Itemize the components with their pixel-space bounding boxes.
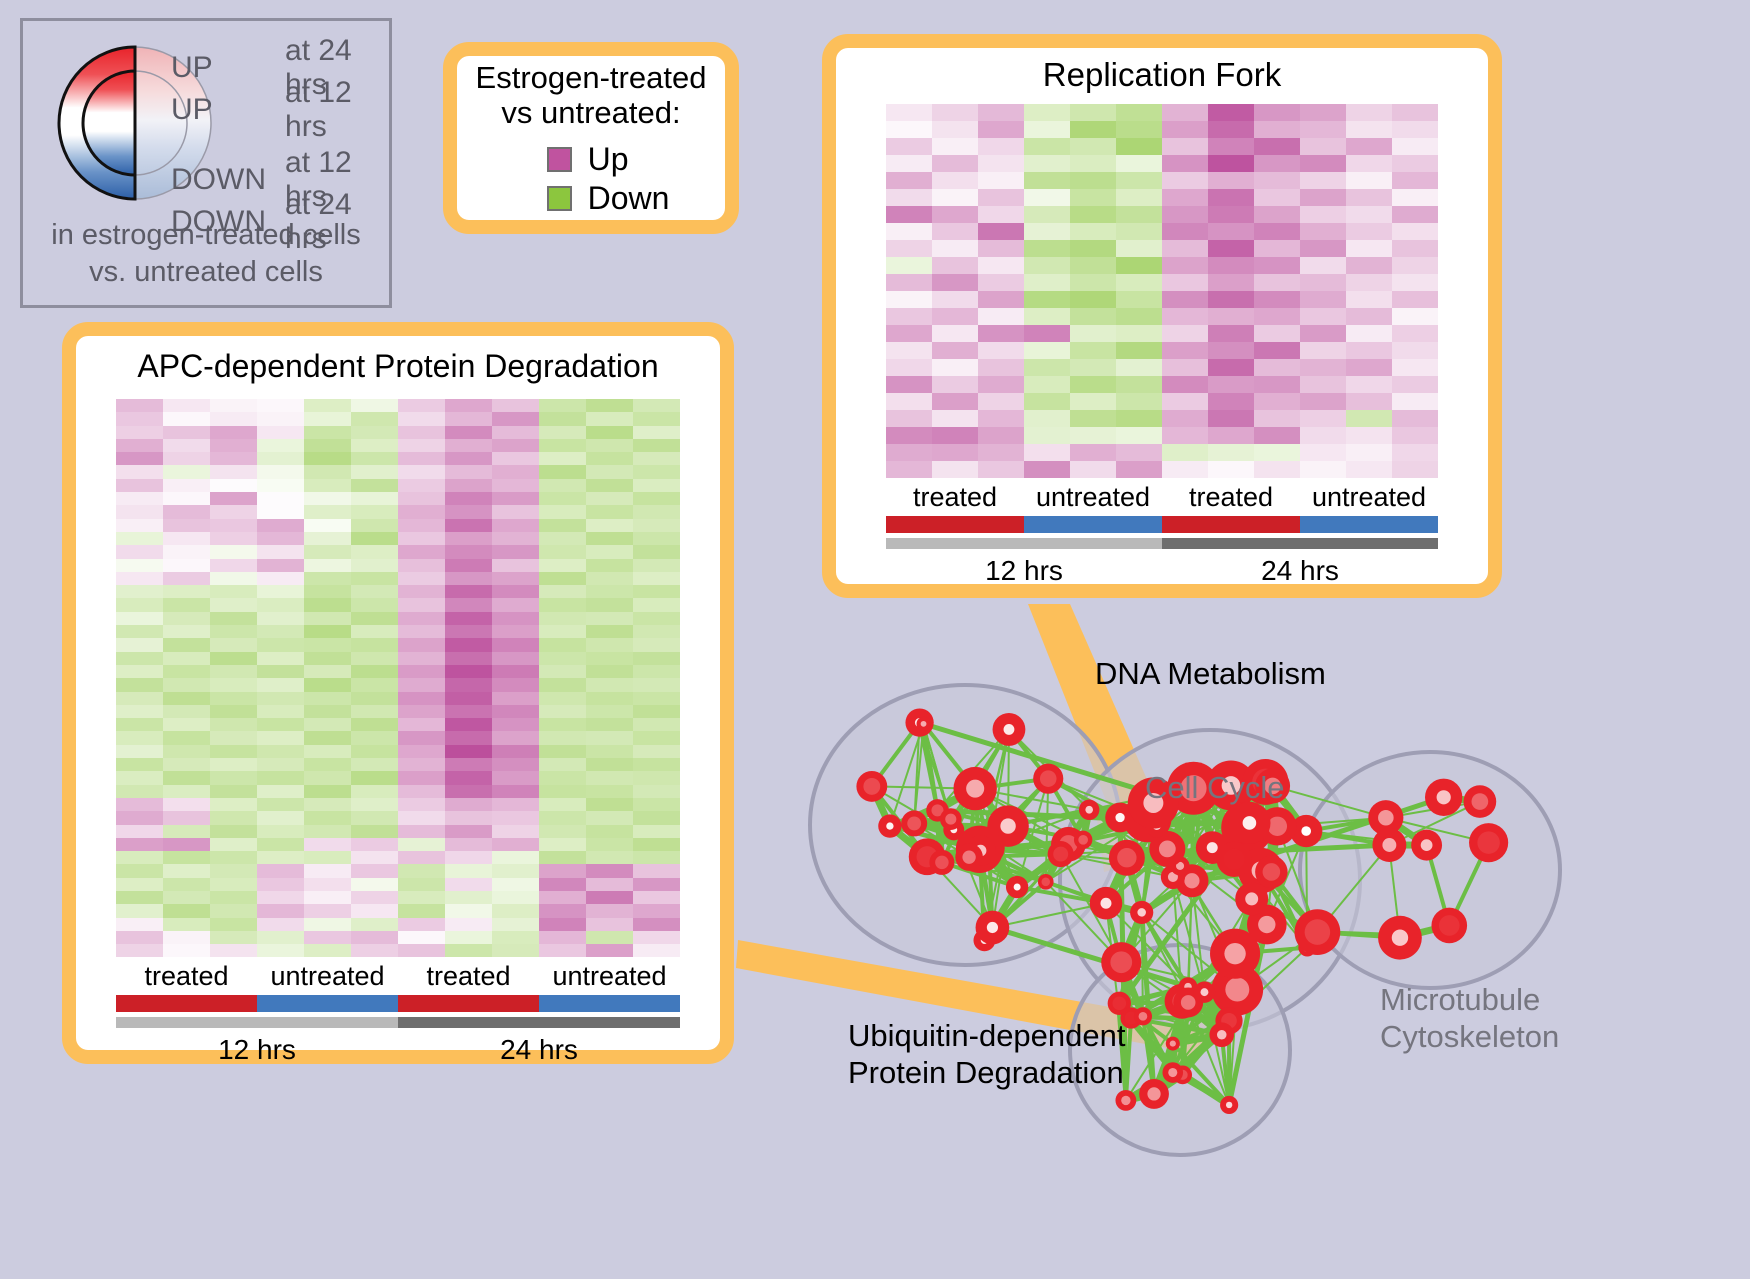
heatmap-cell — [163, 771, 210, 784]
apc-degradation-axis: treated untreated treated untreated 12 h — [116, 957, 680, 1066]
heatmap-cell — [586, 399, 633, 412]
heatmap-cell — [633, 585, 680, 598]
heatmap-cell — [210, 625, 257, 638]
heatmap-cell — [886, 138, 932, 155]
heatmap-cell — [351, 758, 398, 771]
heatmap-cell — [116, 878, 163, 891]
heatmap-cell — [163, 519, 210, 532]
network-node-inner-core — [1226, 1102, 1232, 1108]
heatmap-cell — [163, 492, 210, 505]
heatmap-cell — [1300, 410, 1346, 427]
heatmap-cell — [1300, 274, 1346, 291]
heatmap-cell — [886, 121, 932, 138]
heatmap-cell — [445, 692, 492, 705]
heatmap-cell — [586, 519, 633, 532]
heatmap-cell — [163, 838, 210, 851]
heatmap-cell — [1208, 206, 1254, 223]
heatmap-cell — [978, 223, 1024, 240]
heatmap-cell — [1116, 274, 1162, 291]
heatmap-cell — [445, 878, 492, 891]
heatmap-cell — [1070, 274, 1116, 291]
bar-untreated-12 — [257, 995, 398, 1012]
heatmap-cell — [1024, 376, 1070, 393]
heatmap-cell — [492, 745, 539, 758]
heatmap-cell — [1254, 410, 1300, 427]
heatmap-cell — [1300, 206, 1346, 223]
heatmap-cell — [257, 638, 304, 651]
heatmap-cell — [633, 545, 680, 558]
heatmap-cell — [1392, 240, 1438, 257]
heatmap-cell — [304, 545, 351, 558]
heatmap-cell — [586, 625, 633, 638]
heatmap-cell — [586, 665, 633, 678]
network-svg — [790, 620, 1750, 1279]
heatmap-cell — [398, 705, 445, 718]
heatmap-cell — [492, 585, 539, 598]
heatmap-cell — [257, 838, 304, 851]
heatmap-cell — [1116, 376, 1162, 393]
axis-time-bars — [116, 1017, 680, 1028]
heatmap-cell — [304, 652, 351, 665]
heatmap-cell — [586, 811, 633, 824]
heatmap-cell — [1024, 138, 1070, 155]
heatmap-cell — [257, 771, 304, 784]
heatmap-cell — [351, 745, 398, 758]
heatmap-cell — [633, 612, 680, 625]
heatmap-cell — [1346, 359, 1392, 376]
heatmap-cell — [304, 705, 351, 718]
network-node-inner-core — [1263, 863, 1281, 881]
heatmap-cell — [978, 325, 1024, 342]
cluster-label-ubiquitin-line2: Protein Degradation — [848, 1055, 1126, 1092]
network-node-inner-core — [962, 850, 975, 863]
heatmap-cell — [257, 798, 304, 811]
heatmap-cell — [210, 426, 257, 439]
network-node-inner-core — [1245, 892, 1258, 905]
heatmap-cell — [445, 559, 492, 572]
heatmap-cell — [1254, 223, 1300, 240]
heatmap-cell — [1392, 121, 1438, 138]
cluster-label-dna-metabolism: DNA Metabolism — [1095, 656, 1326, 693]
heatmap-cell — [210, 718, 257, 731]
heatmap-cell — [163, 918, 210, 931]
heatmap-cell — [304, 399, 351, 412]
heatmap-cell — [1070, 223, 1116, 240]
heatmap-cell — [539, 572, 586, 585]
heatmap-cell — [1392, 308, 1438, 325]
axis-group-bars — [886, 516, 1438, 533]
heatmap-cell — [257, 665, 304, 678]
heatmap-cell — [210, 851, 257, 864]
heatmap-cell — [932, 376, 978, 393]
network-node-inner-core — [1439, 915, 1460, 936]
heatmap-cell — [398, 931, 445, 944]
heatmap-cell — [586, 798, 633, 811]
heatmap-cell — [586, 492, 633, 505]
ring-time: at 12 hrs — [285, 76, 389, 144]
heatmap-cell — [1254, 121, 1300, 138]
heatmap-cell — [116, 678, 163, 691]
heatmap-cell — [304, 825, 351, 838]
heatmap-cell — [932, 274, 978, 291]
heatmap-cell — [886, 189, 932, 206]
heatmap-cell — [1116, 257, 1162, 274]
heatmap-cell — [633, 598, 680, 611]
heatmap-cell — [304, 864, 351, 877]
heatmap-cell — [163, 585, 210, 598]
heatmap-cell — [539, 399, 586, 412]
heatmap-cell — [351, 652, 398, 665]
heatmap-cell — [210, 825, 257, 838]
heatmap-cell — [978, 410, 1024, 427]
heatmap-cell — [539, 758, 586, 771]
heatmap-cell — [633, 665, 680, 678]
heatmap-cell — [1346, 155, 1392, 172]
heatmap-cell — [492, 612, 539, 625]
heatmap-cell — [304, 745, 351, 758]
legend-item-down: Down — [547, 180, 670, 217]
heatmap-cell — [1254, 274, 1300, 291]
heatmap-cell — [445, 452, 492, 465]
heatmap-cell — [445, 825, 492, 838]
heatmap-cell — [586, 426, 633, 439]
heatmap-cell — [1024, 427, 1070, 444]
network-node-inner-core — [1258, 916, 1275, 933]
heatmap-cell — [116, 838, 163, 851]
heatmap-cell — [1300, 121, 1346, 138]
heatmap-cell — [1070, 104, 1116, 121]
heatmap-cell — [163, 652, 210, 665]
heatmap-cell — [1070, 444, 1116, 461]
axis-label-untreated-12: untreated — [257, 957, 398, 995]
heatmap-cell — [539, 585, 586, 598]
heatmap-cell — [210, 532, 257, 545]
heatmap-cell — [304, 638, 351, 651]
heatmap-cell — [304, 426, 351, 439]
heatmap-cell — [978, 376, 1024, 393]
heatmap-cell — [1208, 342, 1254, 359]
heatmap-cell — [210, 452, 257, 465]
heatmap-cell — [257, 864, 304, 877]
heatmap-cell — [1392, 189, 1438, 206]
heatmap-cell — [932, 461, 978, 478]
heatmap-cell — [304, 718, 351, 731]
heatmap-cell — [1254, 461, 1300, 478]
heatmap-cell — [1024, 155, 1070, 172]
heatmap-cell — [445, 505, 492, 518]
heatmap-cell — [257, 598, 304, 611]
heatmap-cell — [1254, 240, 1300, 257]
heatmap-cell — [163, 559, 210, 572]
heatmap-cell — [398, 625, 445, 638]
heatmap-cell — [1024, 189, 1070, 206]
heatmap-cell — [398, 838, 445, 851]
heatmap-cell — [1300, 359, 1346, 376]
heatmap-cell — [1162, 444, 1208, 461]
heatmap-cell — [1392, 104, 1438, 121]
heatmap-cell — [1300, 461, 1346, 478]
heatmap-cell — [978, 240, 1024, 257]
heatmap-cell — [1116, 138, 1162, 155]
heatmap-cell — [304, 731, 351, 744]
heatmap-cell — [932, 121, 978, 138]
heatmap-cell — [932, 444, 978, 461]
heatmap-cell — [163, 532, 210, 545]
heatmap-cell — [1162, 461, 1208, 478]
heatmap-cell — [1346, 172, 1392, 189]
heatmap-cell — [116, 864, 163, 877]
heatmap-cell — [978, 393, 1024, 410]
heatmap-cell — [1116, 206, 1162, 223]
estrogen-legend-title-line2: vs untreated: — [476, 96, 707, 131]
heatmap-cell — [1300, 155, 1346, 172]
heatmap-cell — [1162, 274, 1208, 291]
heatmap-cell — [1070, 172, 1116, 189]
heatmap-cell — [492, 492, 539, 505]
heatmap-cell — [304, 412, 351, 425]
network-node-inner-core — [1085, 806, 1093, 814]
axis-label-treated-24: treated — [1162, 478, 1300, 516]
heatmap-cell — [633, 864, 680, 877]
heatmap-cell — [539, 412, 586, 425]
heatmap-cell — [492, 944, 539, 957]
heatmap-cell — [116, 479, 163, 492]
heatmap-cell — [1116, 104, 1162, 121]
heatmap-cell — [586, 878, 633, 891]
network-node-inner-core — [1181, 995, 1196, 1010]
heatmap-cell — [445, 705, 492, 718]
heatmap-cell — [445, 439, 492, 452]
heatmap-cell — [1254, 172, 1300, 189]
network-node-inner-core — [1184, 873, 1199, 888]
heatmap-cell — [978, 104, 1024, 121]
heatmap-cell — [1162, 121, 1208, 138]
heatmap-cell — [1070, 121, 1116, 138]
heatmap-cell — [351, 931, 398, 944]
heatmap-cell — [1392, 376, 1438, 393]
heatmap-cell — [633, 559, 680, 572]
heatmap-cell — [492, 904, 539, 917]
heatmap-cell — [1024, 444, 1070, 461]
heatmap-cell — [257, 758, 304, 771]
heatmap-cell — [586, 559, 633, 572]
heatmap-cell — [633, 851, 680, 864]
heatmap-cell — [1208, 444, 1254, 461]
heatmap-cell — [257, 412, 304, 425]
heatmap-cell — [633, 492, 680, 505]
network-node-inner-core — [1168, 1068, 1177, 1077]
heatmap-cell — [886, 325, 932, 342]
legend-item-up-label: Up — [588, 141, 629, 178]
heatmap-cell — [1392, 325, 1438, 342]
heatmap-cell — [539, 519, 586, 532]
heatmap-cell — [1162, 427, 1208, 444]
heatmap-cell — [210, 705, 257, 718]
heatmap-cell — [492, 705, 539, 718]
heatmap-cell — [492, 465, 539, 478]
heatmap-cell — [163, 692, 210, 705]
heatmap-cell — [116, 692, 163, 705]
heatmap-cell — [351, 399, 398, 412]
heatmap-cell — [633, 692, 680, 705]
heatmap-cell — [1254, 104, 1300, 121]
heatmap-cell — [492, 811, 539, 824]
heatmap-cell — [539, 439, 586, 452]
heatmap-cell — [492, 891, 539, 904]
heatmap-cell — [398, 785, 445, 798]
heatmap-cell — [1208, 121, 1254, 138]
heatmap-cell — [163, 465, 210, 478]
heatmap-cell — [633, 652, 680, 665]
heatmap-cell — [351, 479, 398, 492]
heatmap-cell — [257, 891, 304, 904]
heatmap-cell — [932, 223, 978, 240]
heatmap-cell — [586, 718, 633, 731]
heatmap-cell — [116, 426, 163, 439]
heatmap-cell — [1346, 257, 1392, 274]
heatmap-cell — [1116, 444, 1162, 461]
heatmap-cell — [586, 412, 633, 425]
heatmap-cell — [1392, 172, 1438, 189]
heatmap-cell — [304, 559, 351, 572]
heatmap-cell — [492, 731, 539, 744]
heatmap-cell — [492, 532, 539, 545]
heatmap-cell — [1254, 393, 1300, 410]
heatmap-cell — [586, 505, 633, 518]
heatmap-cell — [398, 465, 445, 478]
down-color-swatch — [547, 186, 572, 211]
heatmap-cell — [351, 864, 398, 877]
heatmap-cell — [1254, 359, 1300, 376]
heatmap-cell — [1116, 291, 1162, 308]
cluster-label-microtubule-line1: Microtubule — [1380, 982, 1559, 1019]
heatmap-cell — [163, 638, 210, 651]
heatmap-cell — [116, 492, 163, 505]
heatmap-cell — [886, 274, 932, 291]
network-node-inner-core — [907, 816, 921, 830]
heatmap-cell — [1024, 393, 1070, 410]
heatmap-cell — [586, 758, 633, 771]
bar-time-24 — [1162, 538, 1438, 549]
heatmap-cell — [210, 785, 257, 798]
heatmap-cell — [445, 545, 492, 558]
heatmap-cell — [539, 452, 586, 465]
heatmap-cell — [116, 825, 163, 838]
heatmap-cell — [978, 274, 1024, 291]
heatmap-cell — [398, 864, 445, 877]
heatmap-cell — [116, 851, 163, 864]
heatmap-cell — [1024, 121, 1070, 138]
heatmap-cell — [1392, 257, 1438, 274]
heatmap-cell — [210, 572, 257, 585]
heatmap-cell — [633, 944, 680, 957]
heatmap-cell — [586, 585, 633, 598]
network-node-inner-core — [945, 814, 956, 825]
heatmap-cell — [304, 572, 351, 585]
axis-label-untreated-12: untreated — [1024, 478, 1162, 516]
heatmap-cell — [633, 731, 680, 744]
heatmap-cell — [586, 771, 633, 784]
cluster-label-ubiquitin-degradation: Ubiquitin-dependent Protein Degradation — [848, 1018, 1126, 1091]
heatmap-cell — [210, 758, 257, 771]
heatmap-cell — [633, 452, 680, 465]
heatmap-cell — [633, 625, 680, 638]
heatmap-cell — [1300, 172, 1346, 189]
heatmap-cell — [978, 308, 1024, 325]
heatmap-cell — [586, 745, 633, 758]
heatmap-cell — [116, 572, 163, 585]
ring-legend-footer-line1: in estrogen-treated cells — [23, 217, 389, 254]
heatmap-cell — [492, 625, 539, 638]
network-node-inner-core — [1139, 1012, 1148, 1021]
heatmap-cell — [1024, 206, 1070, 223]
bar-treated-24 — [398, 995, 539, 1012]
heatmap-cell — [886, 393, 932, 410]
heatmap-cell — [1024, 274, 1070, 291]
heatmap-cell — [932, 308, 978, 325]
heatmap-cell — [1070, 461, 1116, 478]
heatmap-cell — [586, 652, 633, 665]
heatmap-cell — [351, 572, 398, 585]
heatmap-cell — [116, 412, 163, 425]
heatmap-cell — [1346, 325, 1392, 342]
heatmap-cell — [539, 638, 586, 651]
heatmap-cell — [1300, 342, 1346, 359]
heatmap-cell — [1116, 189, 1162, 206]
heatmap-cell — [633, 426, 680, 439]
heatmap-cell — [304, 519, 351, 532]
heatmap-cell — [351, 625, 398, 638]
axis-label-treated-12: treated — [886, 478, 1024, 516]
heatmap-cell — [1162, 189, 1208, 206]
heatmap-cell — [116, 811, 163, 824]
heatmap-cell — [116, 931, 163, 944]
heatmap-cell — [539, 878, 586, 891]
heatmap-cell — [116, 545, 163, 558]
heatmap-cell — [398, 665, 445, 678]
heatmap-cell — [257, 811, 304, 824]
bar-treated-24 — [1162, 516, 1300, 533]
heatmap-cell — [445, 665, 492, 678]
heatmap-cell — [539, 532, 586, 545]
heatmap-cell — [351, 718, 398, 731]
ring-keyword: UP — [171, 93, 285, 127]
network-node-inner-core — [1224, 849, 1245, 870]
heatmap-cell — [163, 705, 210, 718]
network-node-inner-core — [1243, 816, 1257, 830]
heatmap-cell — [304, 944, 351, 957]
heatmap-cell — [1300, 189, 1346, 206]
network-node-inner-core — [1117, 848, 1136, 867]
heatmap-cell — [257, 785, 304, 798]
heatmap-cell — [932, 410, 978, 427]
heatmap-cell — [351, 492, 398, 505]
heatmap-cell — [116, 505, 163, 518]
heatmap-cell — [1024, 359, 1070, 376]
heatmap-cell — [492, 718, 539, 731]
network-node-inner-core — [886, 822, 893, 829]
heatmap-cell — [445, 851, 492, 864]
heatmap-cell — [1024, 240, 1070, 257]
network-node-inner-core — [1159, 841, 1176, 858]
apc-degradation-heatmap — [116, 399, 680, 957]
heatmap-cell — [633, 479, 680, 492]
bar-untreated-24 — [539, 995, 680, 1012]
heatmap-cell — [210, 944, 257, 957]
heatmap-cell — [1116, 427, 1162, 444]
legend-item-up: Up — [547, 141, 670, 178]
heatmap-cell — [257, 918, 304, 931]
